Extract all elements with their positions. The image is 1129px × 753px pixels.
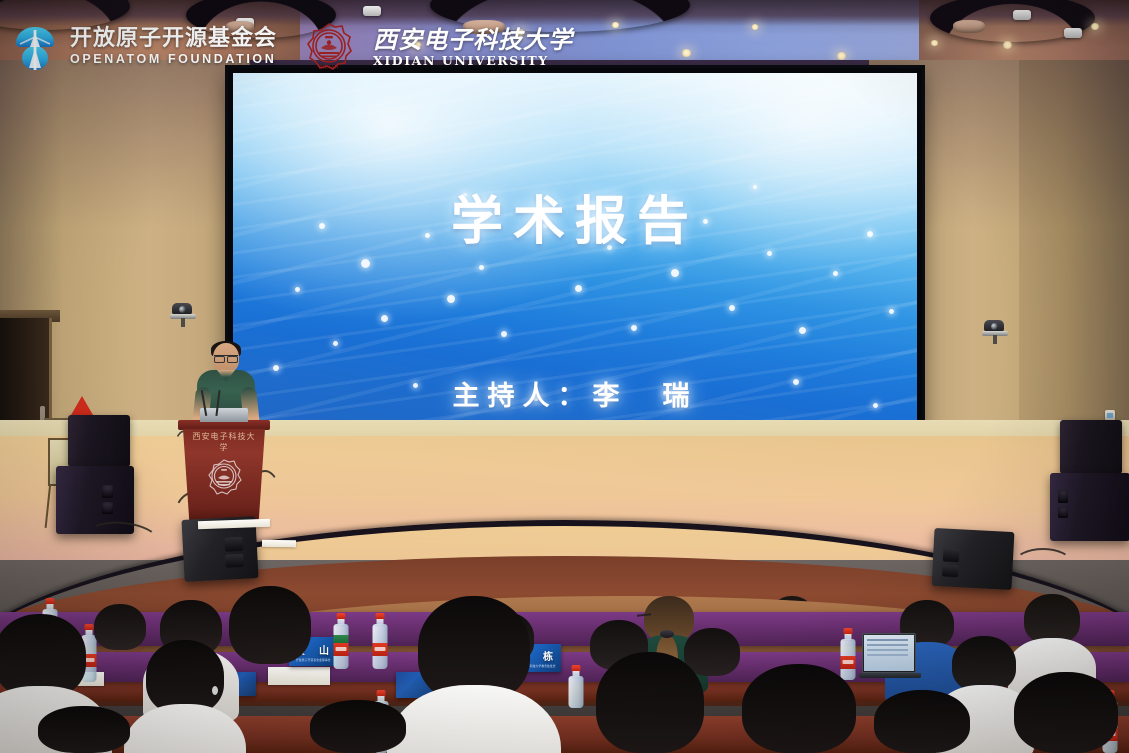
water-bottle bbox=[569, 665, 583, 707]
av-cable bbox=[1014, 548, 1072, 578]
caution-cone bbox=[71, 396, 93, 415]
openatom-chinese-name: 开放原子开源基金会 bbox=[70, 27, 277, 52]
lectern-engraved-text: 西安电子科技大学 bbox=[189, 431, 259, 453]
openatom-logo-icon bbox=[14, 24, 56, 70]
audience-laptop[interactable] bbox=[862, 633, 916, 673]
lecture-hall-photo: 学术报告 主持人：李 瑞 计算机科学与技术学院 副院长 bbox=[0, 0, 1129, 753]
openatom-logo-text: 开放原子开源基金会 OPENATOM FOUNDATION bbox=[70, 27, 277, 67]
wall-camera-right bbox=[982, 320, 1008, 340]
audience-member-front bbox=[596, 652, 704, 753]
eyeglasses bbox=[1036, 625, 1056, 627]
audience-member-front bbox=[0, 614, 86, 698]
audience-member-front bbox=[742, 664, 856, 753]
wall-camera-left bbox=[170, 303, 196, 323]
xidian-english-name: XIDIAN UNIVERSITY bbox=[373, 53, 573, 68]
audience-member-front bbox=[38, 706, 130, 753]
water-bottle bbox=[372, 613, 388, 669]
xidian-chinese-name: 西安电子科技大学 bbox=[373, 26, 573, 54]
ceiling-downlight bbox=[1002, 41, 1013, 49]
xidian-seal-icon: XIDIAN bbox=[305, 22, 353, 72]
pa-speaker-stack-left bbox=[56, 415, 136, 535]
stage-paper bbox=[262, 540, 296, 548]
led-wall: 学术报告 主持人：李 瑞 计算机科学与技术学院 副院长 bbox=[233, 73, 917, 431]
audience-member bbox=[1024, 594, 1080, 644]
openatom-english-name: OPENATOM FOUNDATION bbox=[70, 52, 277, 67]
pa-speaker-stack-right bbox=[1050, 420, 1129, 542]
audience-member-front bbox=[146, 640, 224, 714]
xidian-logo-text: 西安电子科技大学 XIDIAN UNIVERSITY bbox=[373, 26, 573, 69]
audience-member bbox=[94, 604, 146, 650]
ceiling-downlight bbox=[930, 40, 939, 46]
svg-text:XIDIAN: XIDIAN bbox=[319, 65, 339, 71]
audience-member-front bbox=[310, 700, 406, 753]
lectern-emblem-icon bbox=[206, 458, 242, 496]
slide-host-line: 主持人：李 瑞 bbox=[453, 374, 698, 413]
stage-monitor-right bbox=[932, 528, 1015, 590]
ceiling-downlight bbox=[836, 52, 847, 60]
audience-member-front bbox=[418, 596, 530, 702]
logo-overlay-bar: 开放原子开源基金会 OPENATOM FOUNDATION XIDIAN bbox=[14, 22, 573, 72]
audience-member-front bbox=[229, 586, 311, 664]
ceiling-downlight bbox=[751, 24, 759, 30]
hair-clip bbox=[660, 630, 674, 638]
desk-paper bbox=[268, 667, 330, 685]
ceiling-spotlight-fixture bbox=[1013, 10, 1031, 20]
ceiling-downlight bbox=[1090, 23, 1100, 30]
ceiling-spotlight-fixture bbox=[363, 6, 381, 16]
ceiling-downlight bbox=[611, 22, 620, 28]
ceiling-downlight bbox=[681, 49, 692, 57]
ceiling-spotlight-fixture bbox=[1064, 28, 1082, 38]
audience-member-front bbox=[874, 690, 970, 753]
water-bottle bbox=[333, 613, 349, 669]
audience-member bbox=[952, 636, 1016, 692]
face-mask-edge bbox=[212, 686, 218, 695]
slide-title: 学术报告 bbox=[451, 179, 699, 254]
audience-member-front bbox=[1014, 672, 1118, 753]
ceiling-vent bbox=[953, 20, 985, 33]
